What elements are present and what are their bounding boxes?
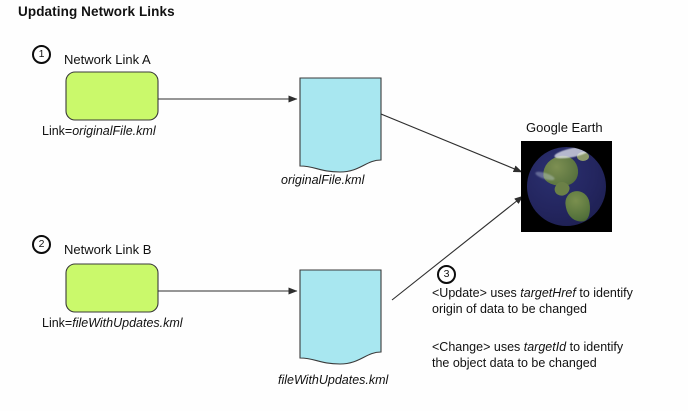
update-verb: uses xyxy=(487,286,520,300)
document-b-shape xyxy=(300,270,381,364)
link-a-prefix: Link= xyxy=(42,124,72,138)
network-link-a-box xyxy=(66,72,158,120)
arrow-doc-b-to-google-earth xyxy=(392,196,523,300)
document-a-shape xyxy=(300,78,381,172)
update-tag: <Update> xyxy=(432,286,487,300)
google-earth-label: Google Earth xyxy=(526,120,603,136)
step-marker-2: 2 xyxy=(32,235,51,254)
link-a-filename: originalFile.kml xyxy=(72,124,155,138)
link-b-prefix: Link= xyxy=(42,316,72,330)
page-title: Updating Network Links xyxy=(18,4,175,21)
note-change: <Change> uses targetId to identifythe ob… xyxy=(432,340,623,371)
network-link-b-box xyxy=(66,264,158,312)
update-tail: to identify xyxy=(576,286,633,300)
document-a-caption: originalFile.kml xyxy=(281,173,364,189)
step-marker-1: 1 xyxy=(32,45,51,64)
network-link-a-caption: Link=originalFile.kml xyxy=(42,124,156,140)
change-second-line: the object data to be changed xyxy=(432,356,597,370)
change-tag: <Change> xyxy=(432,340,490,354)
landmass-south-america xyxy=(563,189,592,224)
google-earth-image xyxy=(521,141,612,232)
diagram-canvas: Updating Network Links 1 2 3 Network Lin… xyxy=(0,0,688,411)
document-b-caption: fileWithUpdates.kml xyxy=(278,373,388,389)
change-verb: uses xyxy=(490,340,523,354)
step-marker-3: 3 xyxy=(437,265,456,284)
link-b-filename: fileWithUpdates.kml xyxy=(72,316,182,330)
network-link-b-label: Network Link B xyxy=(64,242,151,258)
update-italic-term: targetHref xyxy=(520,286,576,300)
note-update: <Update> uses targetHref to identifyorig… xyxy=(432,286,633,317)
change-tail: to identify xyxy=(566,340,623,354)
network-link-a-label: Network Link A xyxy=(64,52,151,68)
globe-sphere xyxy=(527,147,606,226)
update-second-line: origin of data to be changed xyxy=(432,302,587,316)
arrow-doc-a-to-google-earth xyxy=(381,114,522,172)
change-italic-term: targetId xyxy=(524,340,566,354)
network-link-b-caption: Link=fileWithUpdates.kml xyxy=(42,316,183,332)
